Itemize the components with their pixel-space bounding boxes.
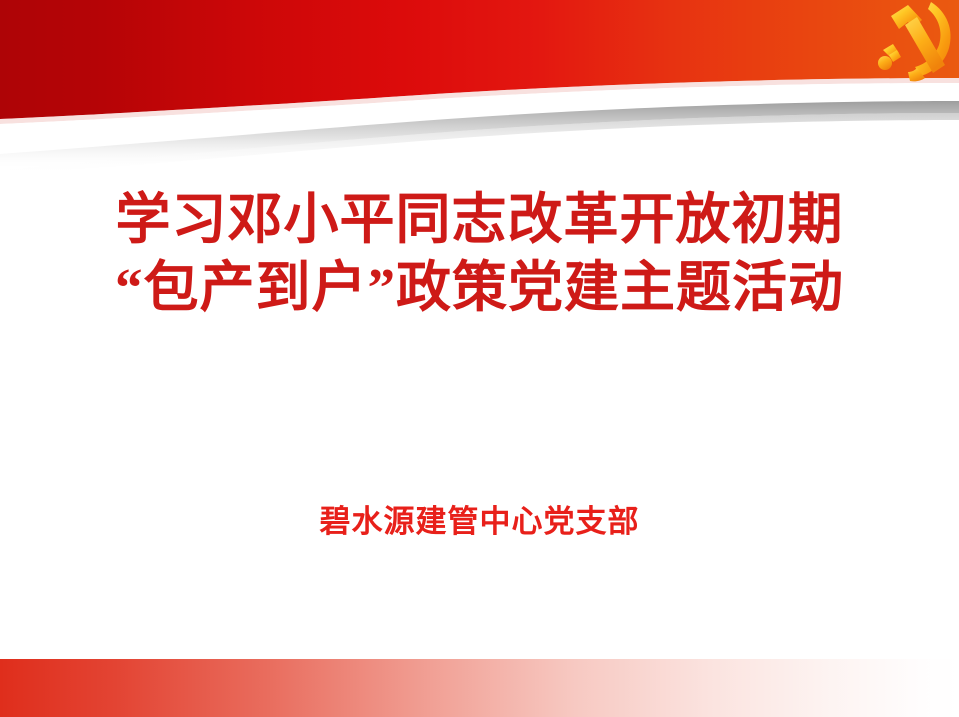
slide-title: 学习邓小平同志改革开放初期 “包产到户”政策党建主题活动 [0,186,959,322]
banner-secondary-curve [0,113,959,175]
top-red-banner [0,0,959,175]
cpc-hammer-sickle-emblem [861,0,957,88]
slide-subtitle: 碧水源建管中心党支部 [0,503,959,541]
hammer-hook-icon [883,44,899,59]
banner-white-swoosh [0,83,959,154]
title-line-1: 学习邓小平同志改革开放初期 [0,186,959,254]
banner-swoosh-shadow [0,101,959,170]
presentation-slide: 学习邓小平同志改革开放初期 “包产到户”政策党建主题活动 碧水源建管中心党支部 [0,0,959,717]
title-line-2: “包产到户”政策党建主题活动 [0,254,959,322]
sickle-icon [915,2,951,76]
banner-red-field [0,0,959,119]
hammer-knob-icon [878,56,892,70]
sickle-handle-icon [908,68,925,81]
subtitle-line-1: 碧水源建管中心党支部 [0,503,959,541]
banner-edge-highlight [0,78,959,124]
hammer-head-icon [891,5,922,29]
bottom-gradient-bar [0,659,959,717]
hammer-handle-icon [905,17,945,73]
hammer-neck-icon [889,50,901,62]
